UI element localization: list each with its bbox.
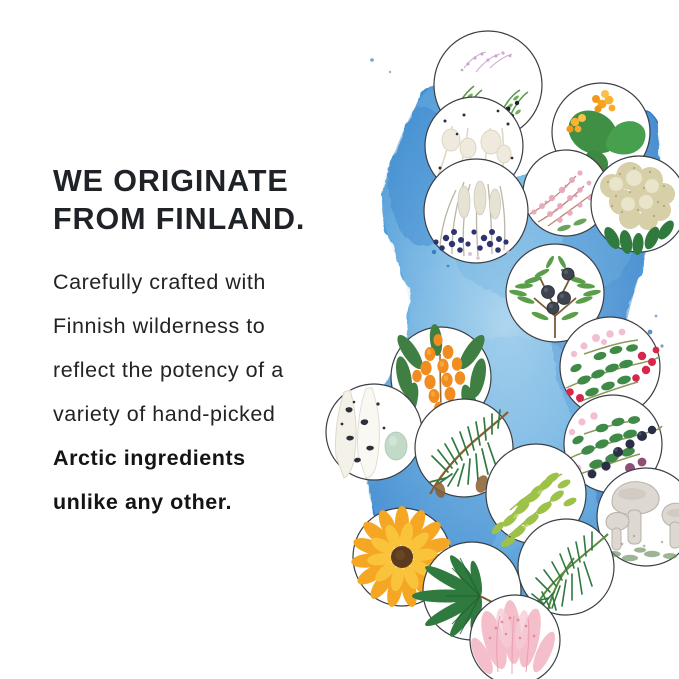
finland-map-illustration <box>312 16 679 679</box>
botanical-disc-blueberry-grass <box>424 159 528 263</box>
botanical-disc-birch-bark <box>326 384 422 480</box>
poster-canvas: WE ORIGINATE FROM FINLAND. Carefully cra… <box>0 0 679 679</box>
